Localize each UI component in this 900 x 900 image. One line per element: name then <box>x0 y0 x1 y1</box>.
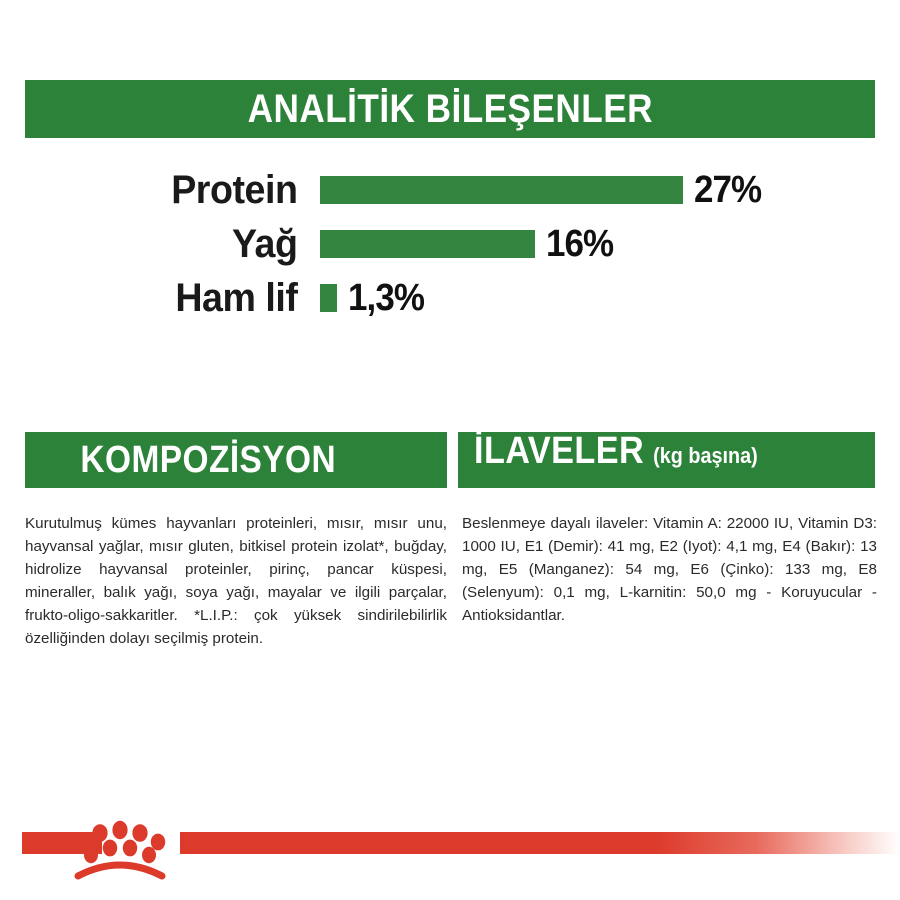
chart-value-protein: 27% <box>694 171 761 209</box>
ilaveler-subtitle: (kg başına) <box>653 445 758 467</box>
chart-bar-wrap-yag: 16% <box>320 218 875 270</box>
ilaveler-header: İLAVELER (kg başına) <box>458 432 875 488</box>
chart-row-yag: Yağ 16% <box>25 218 875 270</box>
chart-bar-wrap-ham-lif: 1,3% <box>320 272 875 324</box>
chart-bar-ham-lif <box>320 284 337 312</box>
chart-bar-wrap-protein: 27% <box>320 164 875 216</box>
chart-bar-protein <box>320 176 683 204</box>
chart-value-yag: 16% <box>546 225 613 263</box>
analytic-components-header: ANALİTİK BİLEŞENLER <box>25 80 875 138</box>
kompozisyon-title: KOMPOZİSYON <box>80 441 336 479</box>
footer-rule-right <box>180 832 900 854</box>
chart-bar-yag <box>320 230 535 258</box>
footer-brand-band <box>0 812 900 900</box>
chart-label-protein: Protein <box>43 170 320 210</box>
chart-label-ham-lif: Ham lif <box>43 278 320 318</box>
chart-row-protein: Protein 27% <box>25 164 875 216</box>
analytic-components-chart: Protein 27% Yağ 16% Ham lif 1,3% <box>25 160 875 330</box>
kompozisyon-body-text: Kurutulmuş kümes hayvanları proteinleri,… <box>25 512 447 651</box>
kompozisyon-header: KOMPOZİSYON <box>25 432 447 488</box>
ilaveler-title-row: İLAVELER (kg başına) <box>474 432 758 470</box>
analytic-components-title: ANALİTİK BİLEŞENLER <box>247 89 652 129</box>
royal-canin-crown-icon <box>60 806 180 886</box>
ilaveler-title: İLAVELER <box>474 432 644 470</box>
chart-value-ham-lif: 1,3% <box>348 279 424 317</box>
chart-row-ham-lif: Ham lif 1,3% <box>25 272 875 324</box>
chart-label-yag: Yağ <box>43 224 320 264</box>
ilaveler-body-text: Beslenmeye dayalı ilaveler: Vitamin A: 2… <box>462 512 877 627</box>
